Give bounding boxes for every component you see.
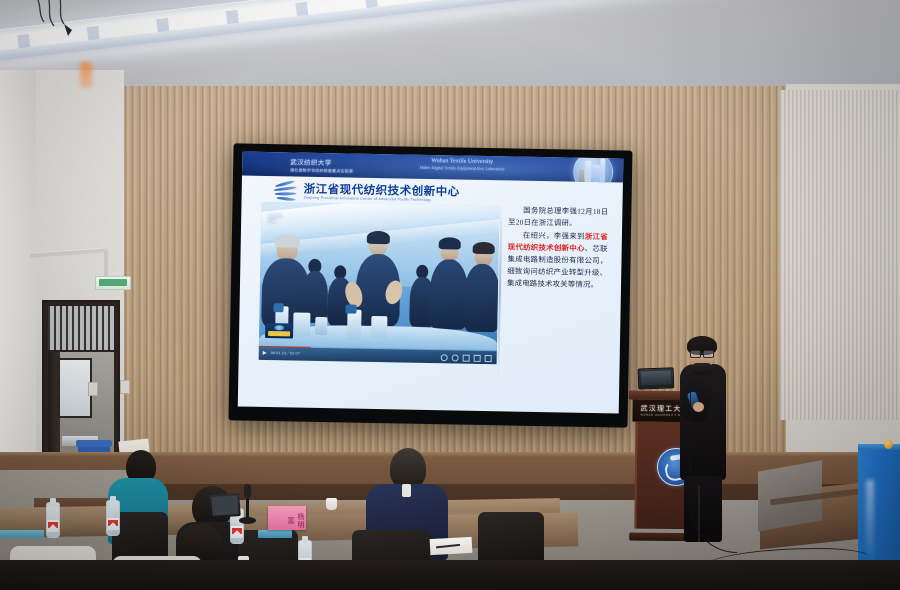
textile-equipment-photo-icon [573,152,614,183]
water-bottle [106,500,120,536]
settings-gear-icon[interactable] [452,354,459,361]
eyeglasses-icon [690,350,714,356]
slide-paragraph-1: 国务院总理李强12月18日至20日在浙江调研。 [508,204,608,230]
slide-header-en-title: Wuhan Textile University Hubei Digital T… [392,157,532,172]
projection-screen: 武汉纺织大学 湖北省数字化纺织装备重点实验室 Wuhan Textile Uni… [228,143,632,427]
desk-display-strip [0,530,44,538]
door-transom-grille [48,306,114,350]
cabinet-knob-icon [884,440,893,449]
cabinet-highlight [866,480,874,566]
right-wall-panel [780,90,900,420]
lectern-light-reflection [80,62,92,88]
microphone-cable [690,392,737,553]
play-icon[interactable] [263,351,267,355]
water-bottle [46,502,60,538]
exit-sign-icon [95,276,131,290]
door-window [58,358,92,418]
fullscreen-icon[interactable] [485,355,492,362]
presentation-slide: 武汉纺织大学 湖北省数字化纺织装备重点实验室 Wuhan Textile Uni… [238,152,624,414]
screen-bezel: 武汉纺织大学 湖北省数字化纺织装备重点实验室 Wuhan Textile Uni… [228,143,632,427]
desk-display-strip [258,530,292,538]
front-table-edge [0,560,900,590]
theater-mode-icon[interactable] [474,354,481,361]
shirt-collar [402,484,411,497]
video-timecode: 00:01:23 / 02:07 [271,351,300,356]
video-station-badge [265,323,293,339]
podium-laptop [638,367,673,390]
volume-icon[interactable] [441,354,448,361]
ceiling-cable-rig-icon [28,0,98,40]
wall-switch-box [88,382,98,396]
tablet-device [209,493,241,518]
conference-hall-photo: 武汉纺织大学 湖北省数字化纺织装备重点实验室 Wuhan Textile Uni… [0,0,900,590]
slide-body: CCTV13 新闻 [238,200,623,408]
slide-header-cn-logo: 武汉纺织大学 湖北省数字化纺织装备重点实验室 [290,156,353,174]
slide-title: 浙江省现代纺织技术创新中心 Zhejiang Provincial Innova… [304,183,460,203]
embedded-video-player[interactable]: CCTV13 新闻 [259,202,500,364]
notepad [430,537,473,555]
presenter-collar [691,363,713,375]
channel-watermark: CCTV13 新闻 [268,213,282,224]
slide-paragraph-2: 在绍兴，李强来到浙江省现代纺织技术创新中心、芯联集成电路制造股份有限公司，细致询… [507,229,608,291]
slide-header-bar: 武汉纺织大学 湖北省数字化纺织装备重点实验室 Wuhan Textile Uni… [242,152,623,183]
wall-outlet-box [120,380,130,394]
desk-microphone-icon [246,494,249,520]
video-control-icons[interactable] [441,354,492,362]
paper-cup [326,498,337,510]
subtitles-icon[interactable] [463,354,470,361]
name-card: 杨明富 [268,506,306,530]
conduit-pipe-drop [104,252,108,278]
slide-text-panel: 国务院总理李强12月18日至20日在浙江调研。 在绍兴，李强来到浙江省现代纺织技… [505,204,608,380]
